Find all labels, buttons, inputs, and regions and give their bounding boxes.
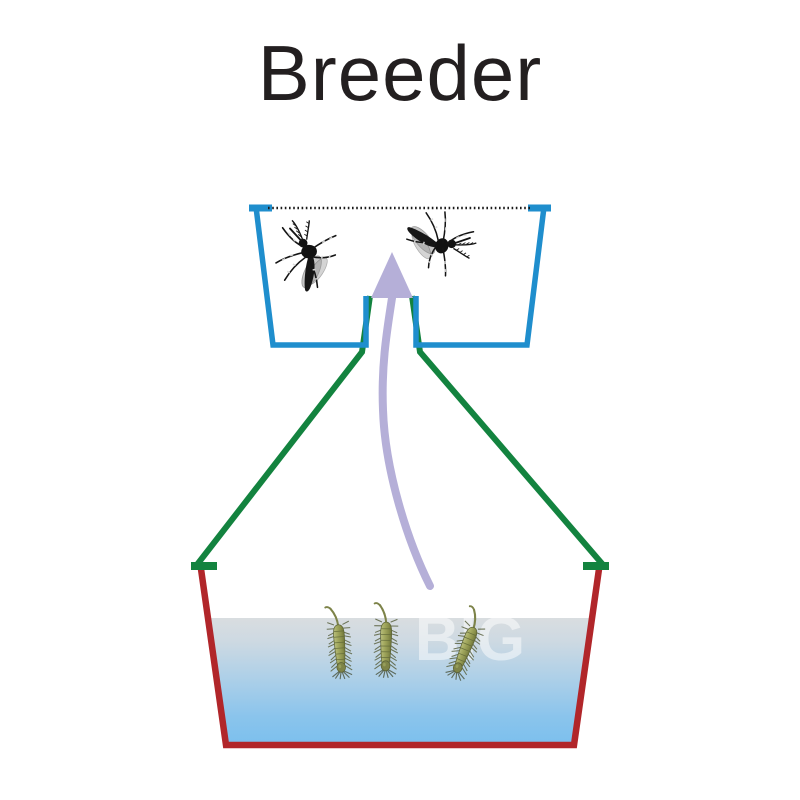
flow-arrow-head xyxy=(371,252,413,298)
funnel-wall-right xyxy=(412,296,604,566)
adult-mosquito-left xyxy=(269,215,342,297)
funnel-wall-left xyxy=(196,296,370,566)
adult-mosquito-right xyxy=(396,198,484,284)
funnel-group xyxy=(191,296,609,566)
flow-arrow xyxy=(371,252,430,586)
breeder-diagram: BIG xyxy=(0,0,800,800)
figure-root: Breeder xyxy=(0,0,800,800)
water-tray-group: BIG xyxy=(195,569,605,750)
adult-mosquito-group xyxy=(269,198,484,296)
water-body: BIG xyxy=(195,605,605,750)
